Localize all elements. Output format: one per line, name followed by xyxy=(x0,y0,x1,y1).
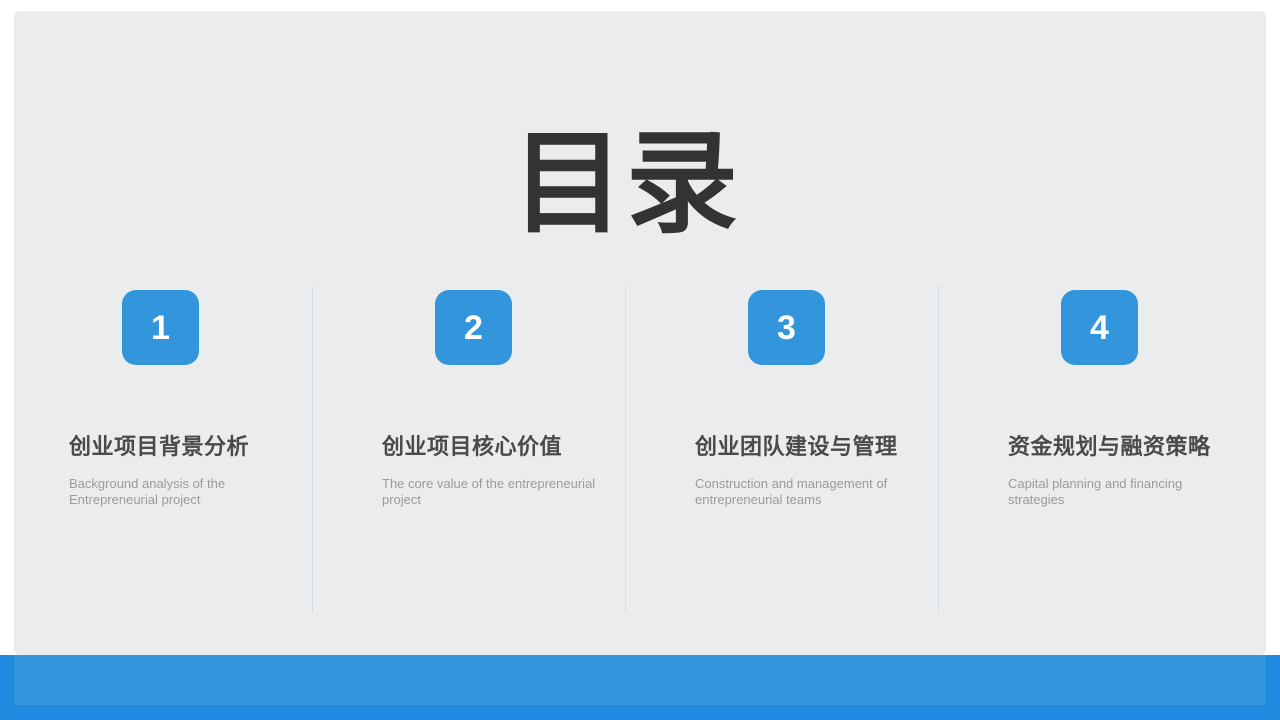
agenda-number-badge-4: 4 xyxy=(1061,290,1138,365)
agenda-number-badge-1: 1 xyxy=(122,290,199,365)
agenda-heading-3: 创业团队建设与管理 xyxy=(695,429,939,461)
slide-canvas: 目录 1 创业项目背景分析 Background analysis of the… xyxy=(0,0,1280,720)
agenda-subtitle-1: Background analysis of the Entrepreneuri… xyxy=(69,476,299,508)
page-title: 目录 xyxy=(0,128,1252,240)
agenda-number-badge-3: 3 xyxy=(748,290,825,365)
agenda-subtitle-2: The core value of the entrepreneurial pr… xyxy=(382,476,612,508)
agenda-subtitle-3: Construction and management of entrepren… xyxy=(695,476,925,508)
agenda-columns: 1 创业项目背景分析 Background analysis of the En… xyxy=(0,276,1252,626)
agenda-subtitle-4: Capital planning and financing strategie… xyxy=(1008,476,1238,508)
agenda-heading-1: 创业项目背景分析 xyxy=(69,429,313,461)
agenda-item-1[interactable]: 1 创业项目背景分析 Background analysis of the En… xyxy=(0,276,313,626)
footer-bar-inner xyxy=(14,655,1266,705)
agenda-heading-2: 创业项目核心价值 xyxy=(382,429,626,461)
agenda-item-2[interactable]: 2 创业项目核心价值 The core value of the entrepr… xyxy=(313,276,626,626)
agenda-number-badge-2: 2 xyxy=(435,290,512,365)
agenda-heading-4: 资金规划与融资策略 xyxy=(1008,429,1252,461)
agenda-item-4[interactable]: 4 资金规划与融资策略 Capital planning and financi… xyxy=(939,276,1252,626)
agenda-item-3[interactable]: 3 创业团队建设与管理 Construction and management … xyxy=(626,276,939,626)
